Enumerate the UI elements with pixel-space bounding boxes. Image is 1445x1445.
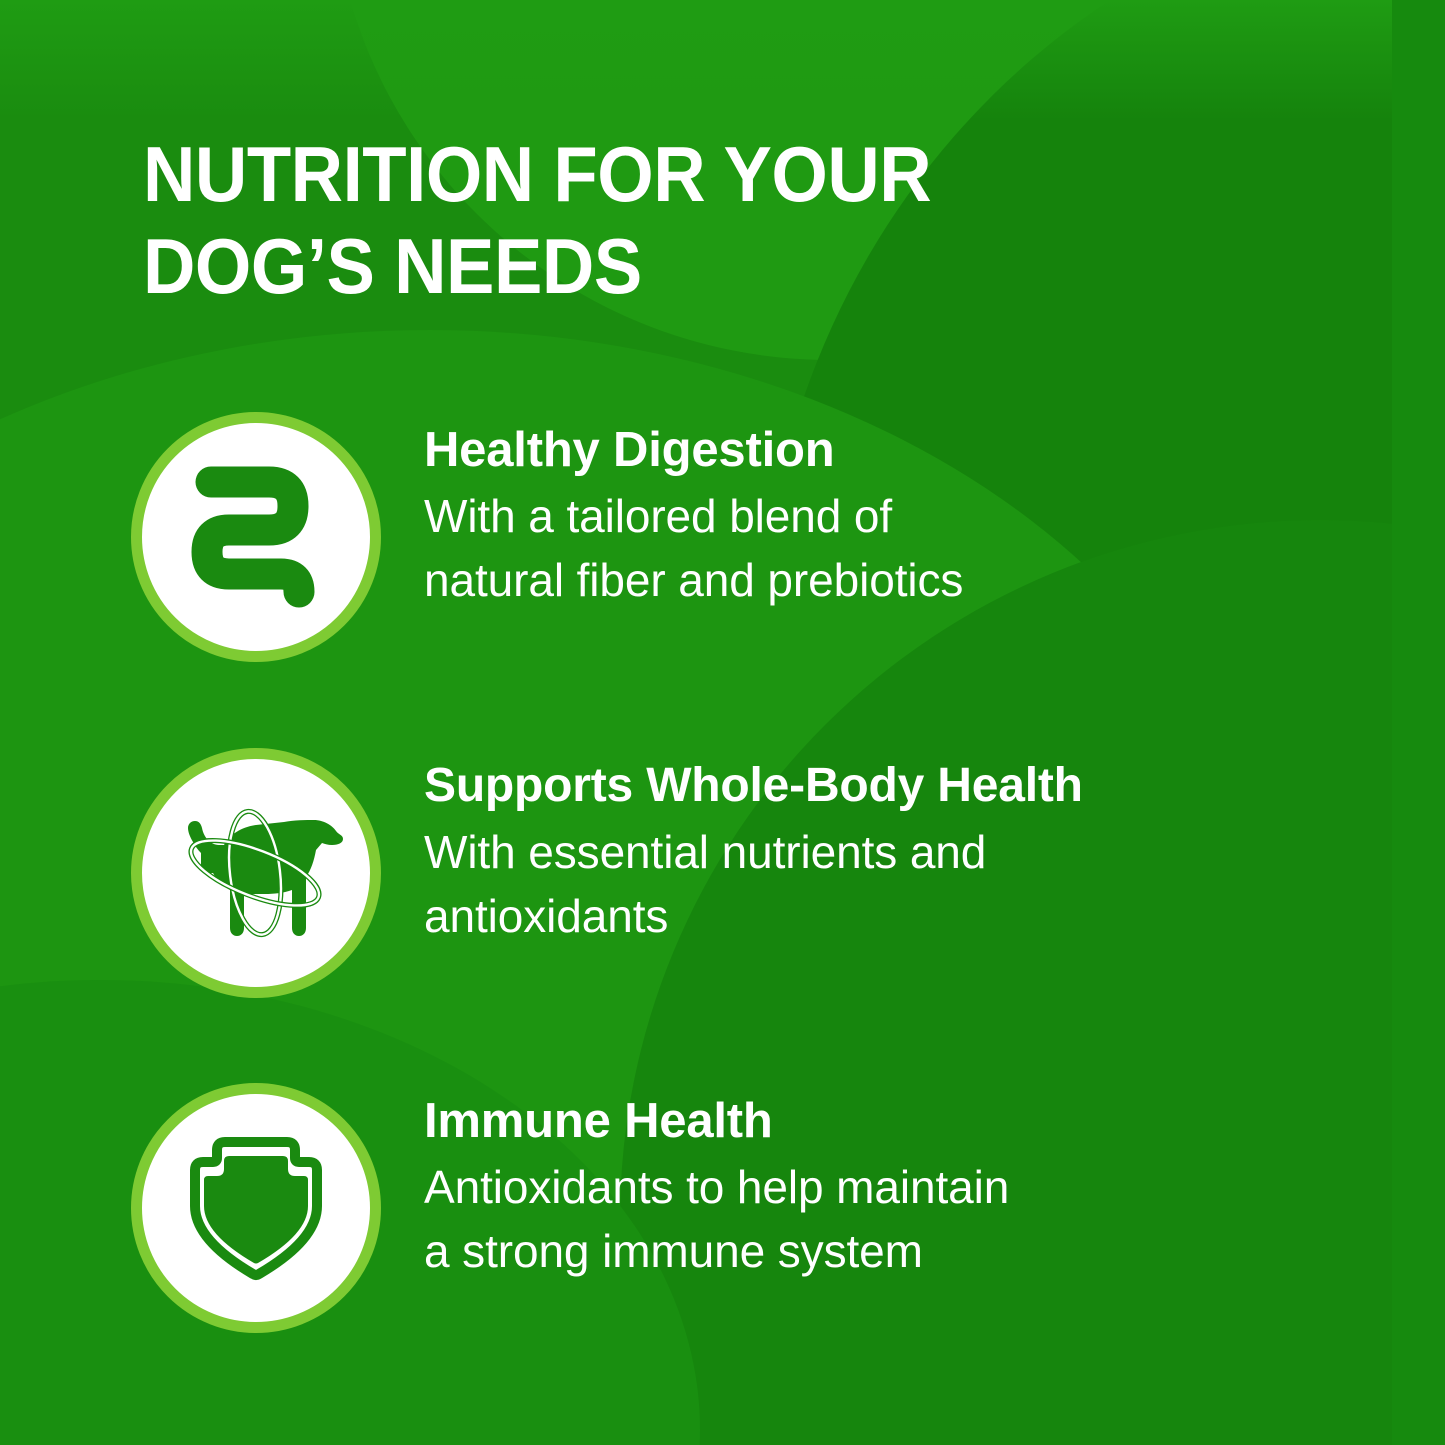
feature-description: Antioxidants to help maintain a strong i… <box>424 1155 1384 1283</box>
feature-title: Immune Health <box>424 1091 1384 1151</box>
feature-title: Supports Whole-Body Health <box>424 756 1384 816</box>
feature-text-immune: Immune Health Antioxidants to help maint… <box>424 1091 1384 1283</box>
infographic-panel: NUTRITION FOR YOUR DOG’S NEEDS Healthy D… <box>0 0 1445 1445</box>
feature-row-whole-body-health: Supports Whole-Body Health With essentia… <box>0 748 1445 1028</box>
feature-row-immune-health: Immune Health Antioxidants to help maint… <box>0 1083 1445 1363</box>
feature-description: With a tailored blend of natural fiber a… <box>424 484 1384 612</box>
feature-text-whole-body: Supports Whole-Body Health With essentia… <box>424 756 1384 948</box>
feature-description: With essential nutrients and antioxidant… <box>424 820 1384 948</box>
icon-badge-immune <box>131 1083 381 1333</box>
feature-title: Healthy Digestion <box>424 420 1384 480</box>
background-top-gradient <box>0 0 1445 120</box>
feature-text-digestion: Healthy Digestion With a tailored blend … <box>424 420 1384 612</box>
shield-icon <box>185 1128 327 1288</box>
intestine-icon <box>181 452 331 622</box>
page-title: NUTRITION FOR YOUR DOG’S NEEDS <box>143 128 1222 312</box>
dog-with-orbit-rings-icon <box>166 798 346 948</box>
icon-badge-digestion <box>131 412 381 662</box>
feature-row-healthy-digestion: Healthy Digestion With a tailored blend … <box>0 412 1445 692</box>
icon-badge-whole-body <box>131 748 381 998</box>
